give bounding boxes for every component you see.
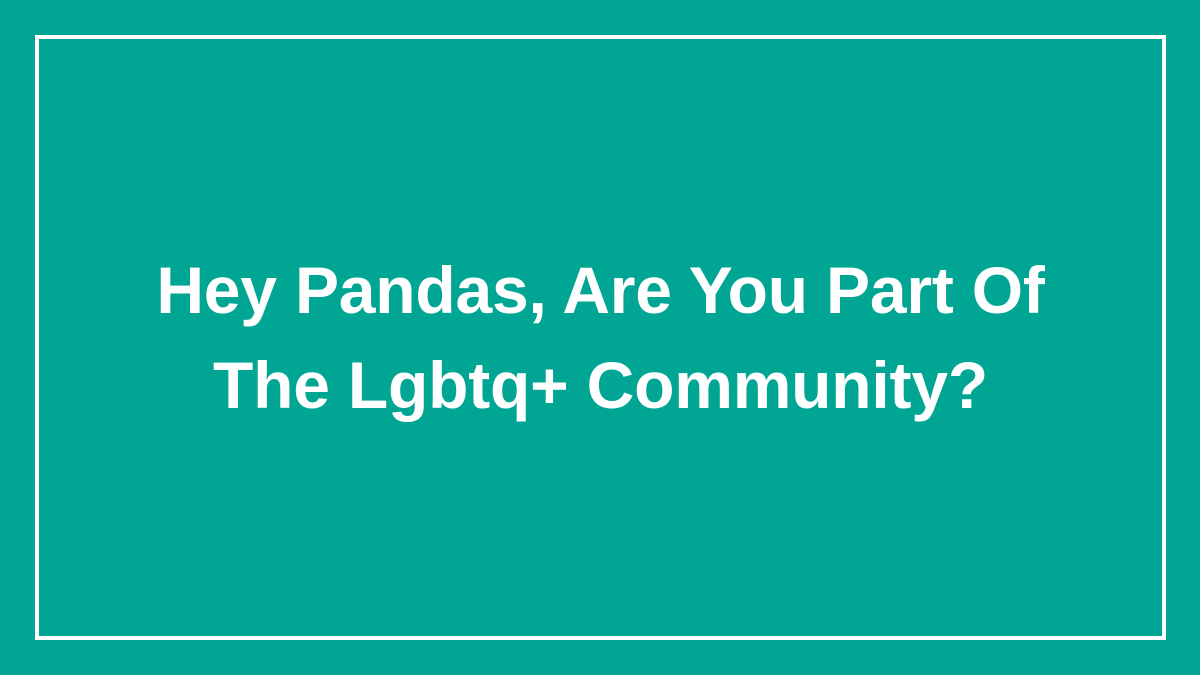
page-title: Hey Pandas, Are You Part Of The Lgbtq+ C… (146, 243, 1056, 433)
title-card: Hey Pandas, Are You Part Of The Lgbtq+ C… (0, 0, 1200, 675)
title-block: Hey Pandas, Are You Part Of The Lgbtq+ C… (35, 35, 1166, 640)
